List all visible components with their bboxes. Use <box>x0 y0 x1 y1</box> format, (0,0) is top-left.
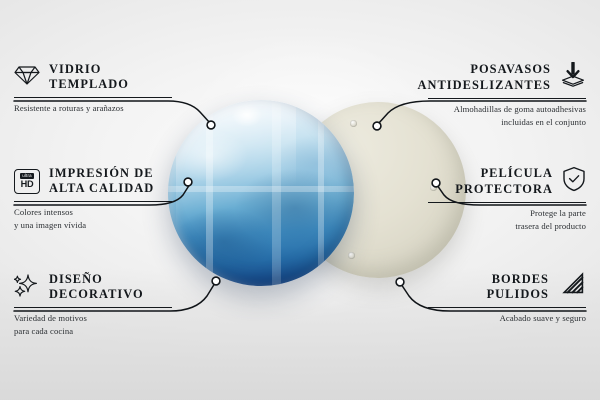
diamond-icon <box>14 64 40 91</box>
feature-description: Variedad de motivos para cada cocina <box>14 312 232 338</box>
hatched-triangle-icon <box>558 272 586 302</box>
divider-rule <box>428 307 586 308</box>
feature-bordes-pulidos: BORDES PULIDOS Acabado suave y seguro <box>368 272 586 325</box>
divider-rule <box>428 202 586 203</box>
feature-title: PELÍCULA PROTECTORA <box>455 166 553 196</box>
feature-heading: BORDES PULIDOS <box>368 272 586 302</box>
divider-rule <box>14 201 172 202</box>
ultra-hd-badge-large-text: HD <box>21 180 34 189</box>
feature-description: Protege la parte trasera del producto <box>368 207 586 233</box>
feature-title: BORDES PULIDOS <box>487 272 549 302</box>
shield-check-icon <box>562 166 586 197</box>
press-down-pad-icon <box>560 62 586 93</box>
feature-pelicula-protectora: PELÍCULA PROTECTORA Protege la parte tra… <box>368 166 586 233</box>
feature-impresion-alta-calidad: ultra HD IMPRESIÓN DE ALTA CALIDAD Color… <box>14 166 232 232</box>
feature-heading: ultra HD IMPRESIÓN DE ALTA CALIDAD <box>14 166 232 196</box>
divider-rule <box>14 97 172 98</box>
sparkles-icon <box>14 273 40 302</box>
feature-heading: DISEÑO DECORATIVO <box>14 272 232 302</box>
feature-description: Almohadillas de goma autoadhesivas inclu… <box>368 103 586 129</box>
connector-dot-1 <box>207 121 215 129</box>
feature-vidrio-templado: VIDRIO TEMPLADO Resistente a roturas y a… <box>14 62 232 115</box>
feature-title: VIDRIO TEMPLADO <box>49 62 129 92</box>
ultra-hd-badge-icon: ultra HD <box>14 169 40 194</box>
feature-description: Resistente a roturas y arañazos <box>14 102 232 115</box>
feature-description: Acabado suave y seguro <box>368 312 586 325</box>
feature-diseno-decorativo: DISEÑO DECORATIVO Variedad de motivos pa… <box>14 272 232 338</box>
divider-rule <box>428 98 586 99</box>
feature-description: Colores intensos y una imagen vívida <box>14 206 232 232</box>
feature-posavasos-antideslizantes: POSAVASOS ANTIDESLIZANTES Almohadillas d… <box>368 62 586 129</box>
feature-heading: PELÍCULA PROTECTORA <box>368 166 586 197</box>
feature-heading: VIDRIO TEMPLADO <box>14 62 232 92</box>
feature-title: POSAVASOS ANTIDESLIZANTES <box>417 62 551 92</box>
infographic-canvas: VIDRIO TEMPLADO Resistente a roturas y a… <box>0 0 600 400</box>
feature-title: DISEÑO DECORATIVO <box>49 272 144 302</box>
divider-rule <box>14 307 172 308</box>
feature-title: IMPRESIÓN DE ALTA CALIDAD <box>49 166 154 196</box>
feature-heading: POSAVASOS ANTIDESLIZANTES <box>368 62 586 93</box>
